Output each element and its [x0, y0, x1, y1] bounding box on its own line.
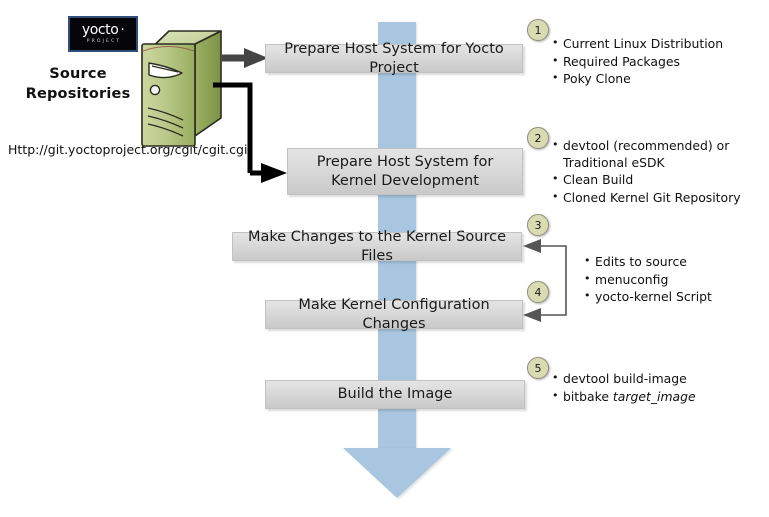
note-item: Required Packages	[551, 54, 763, 71]
process-box-step-1[interactable]: Prepare Host System for Yocto Project	[265, 44, 523, 73]
yocto-project-logo: yocto· PROJECT	[68, 16, 138, 52]
process-box-step-5[interactable]: Build the Image	[265, 380, 525, 409]
process-box-step-2[interactable]: Prepare Host System for Kernel Developme…	[287, 148, 523, 195]
note-item: Current Linux Distribution	[551, 36, 763, 53]
note-item: yocto-kernel Script	[583, 289, 763, 306]
note-item: Clean Build	[551, 172, 763, 189]
note-item: Edits to source	[583, 254, 763, 271]
step-badge-2: 2	[527, 127, 549, 149]
notes-step-5: devtool build-imagebitbake target_image	[551, 371, 763, 406]
note-emphasis: target_image	[613, 389, 696, 404]
arrow-server-to-step2	[213, 85, 287, 183]
logo-subtitle: PROJECT	[85, 40, 122, 45]
logo-wordmark: yocto·	[82, 23, 124, 37]
process-box-step-3[interactable]: Make Changes to the Kernel Source Files	[232, 232, 522, 261]
logo-dot: ·	[118, 23, 124, 38]
notes-step-2: devtool (recommended) or Traditional eSD…	[551, 138, 763, 207]
note-item: menuconfig	[583, 272, 763, 289]
step-badge-5: 5	[527, 357, 549, 379]
flow-arrow-down-icon	[343, 448, 451, 498]
notes-list-5: devtool build-imagebitbake target_image	[551, 371, 763, 405]
arrow-feedback-steps-3-4	[523, 239, 566, 322]
source-repositories-label: Source Repositories	[16, 64, 140, 104]
note-item: devtool build-image	[551, 371, 763, 388]
process-box-step-4[interactable]: Make Kernel Configuration Changes	[265, 300, 523, 329]
note-text: bitbake	[563, 389, 613, 404]
notes-list-2: devtool (recommended) or Traditional eSD…	[551, 138, 763, 206]
arrow-server-to-step1	[222, 48, 268, 68]
notes-step-1: Current Linux DistributionRequired Packa…	[551, 36, 763, 89]
notes-steps-3-4: Edits to sourcemenuconfigyocto-kernel Sc…	[583, 254, 763, 307]
step-badge-4: 4	[527, 281, 549, 303]
step-badge-3: 3	[527, 214, 549, 236]
note-item: devtool (recommended) or Traditional eSD…	[551, 138, 763, 171]
notes-list-1: Current Linux DistributionRequired Packa…	[551, 36, 763, 88]
source-label-line2: Repositories	[16, 84, 140, 104]
workflow-diagram: yocto· PROJECT Source Repositories Http:…	[0, 0, 769, 517]
source-label-line1: Source	[16, 64, 140, 84]
note-item: Poky Clone	[551, 71, 763, 88]
note-item: bitbake target_image	[551, 389, 763, 406]
step-badge-1: 1	[527, 19, 549, 41]
logo-word-text: yocto	[82, 22, 119, 38]
notes-list-34: Edits to sourcemenuconfigyocto-kernel Sc…	[583, 254, 763, 306]
note-item: Cloned Kernel Git Repository	[551, 190, 763, 207]
server-tower-icon	[133, 26, 223, 152]
